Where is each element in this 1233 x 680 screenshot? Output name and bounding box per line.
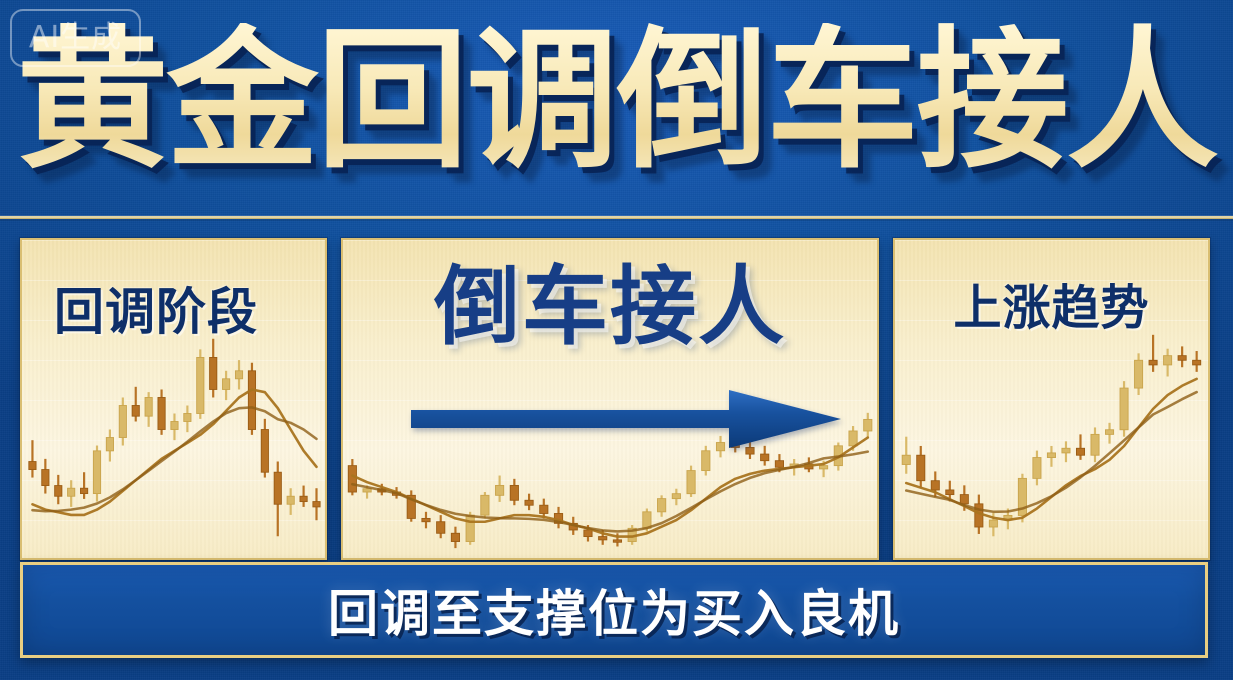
panel-pickup[interactable]: 倒车接人 — [341, 238, 879, 560]
arrow-right-icon — [411, 390, 841, 448]
panel-uptrend[interactable]: 上涨趋势 — [893, 238, 1210, 560]
ai-generated-watermark-label: AI生成 — [29, 23, 122, 53]
chart-panels-row: 回调阶段 倒车接人 上涨 — [20, 238, 1210, 560]
poster-root: AI生成 黄金回调倒车接人 回调阶段 倒车接人 — [0, 0, 1233, 680]
ai-generated-watermark-badge: AI生成 — [10, 9, 141, 67]
headline-container: 黄金回调倒车接人 — [0, 8, 1233, 193]
panel-label-pullback: 回调阶段 — [54, 272, 258, 344]
panel-label-uptrend: 上涨趋势 — [954, 268, 1150, 338]
panel-pullback[interactable]: 回调阶段 — [20, 238, 327, 560]
page-title: 黄金回调倒车接人 — [11, 23, 1223, 178]
panel-label-pickup: 倒车接人 — [343, 264, 877, 350]
gold-divider-rule — [0, 215, 1233, 221]
caption-text: 回调至支撑位为买入良机 — [328, 574, 900, 646]
caption-bar: 回调至支撑位为买入良机 — [20, 562, 1208, 658]
